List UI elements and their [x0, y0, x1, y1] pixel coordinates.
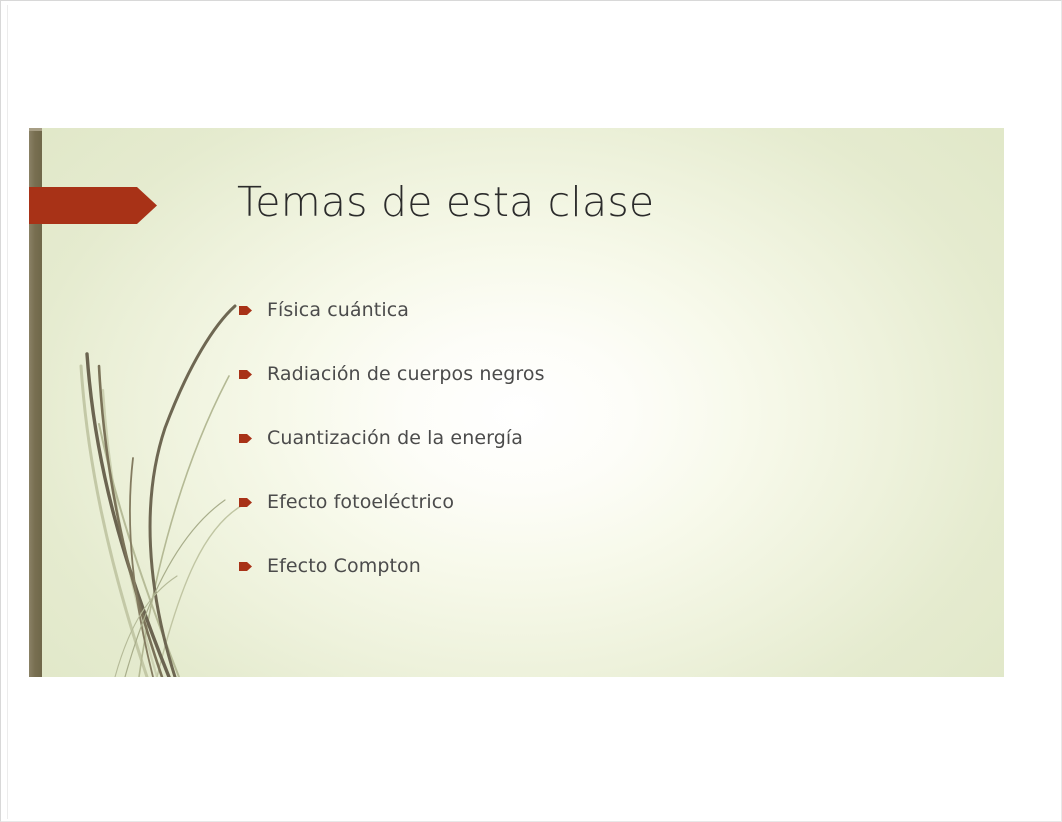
- list-item: Cuantización de la energía: [239, 424, 939, 452]
- list-item: Radiación de cuerpos negros: [239, 360, 939, 388]
- list-item: Física cuántica: [239, 296, 939, 324]
- list-item-label: Efecto fotoeléctrico: [267, 493, 454, 512]
- arrow-bullet-icon: [239, 434, 252, 443]
- list-item-label: Efecto Compton: [267, 557, 421, 576]
- list-item-label: Radiación de cuerpos negros: [267, 365, 545, 384]
- page-sheet: Temas de esta clase Física cuántica Radi…: [0, 0, 1062, 822]
- arrow-bullet-icon: [239, 562, 252, 571]
- arrow-bullet-icon: [239, 306, 252, 315]
- page-inner-rule: [7, 5, 8, 819]
- olive-sidebar-bar-cap: [29, 128, 42, 131]
- list-item-label: Cuantización de la energía: [267, 429, 523, 448]
- slide-title: Temas de esta clase: [237, 178, 937, 226]
- bullet-list: Física cuántica Radiación de cuerpos neg…: [239, 296, 939, 616]
- arrow-bullet-icon: [239, 370, 252, 379]
- arrow-bullet-icon: [239, 498, 252, 507]
- arrow-banner-icon: [29, 187, 157, 224]
- list-item: Efecto Compton: [239, 552, 939, 580]
- list-item-label: Física cuántica: [267, 301, 409, 320]
- slide-canvas: Temas de esta clase Física cuántica Radi…: [29, 128, 1004, 677]
- list-item: Efecto fotoeléctrico: [239, 488, 939, 516]
